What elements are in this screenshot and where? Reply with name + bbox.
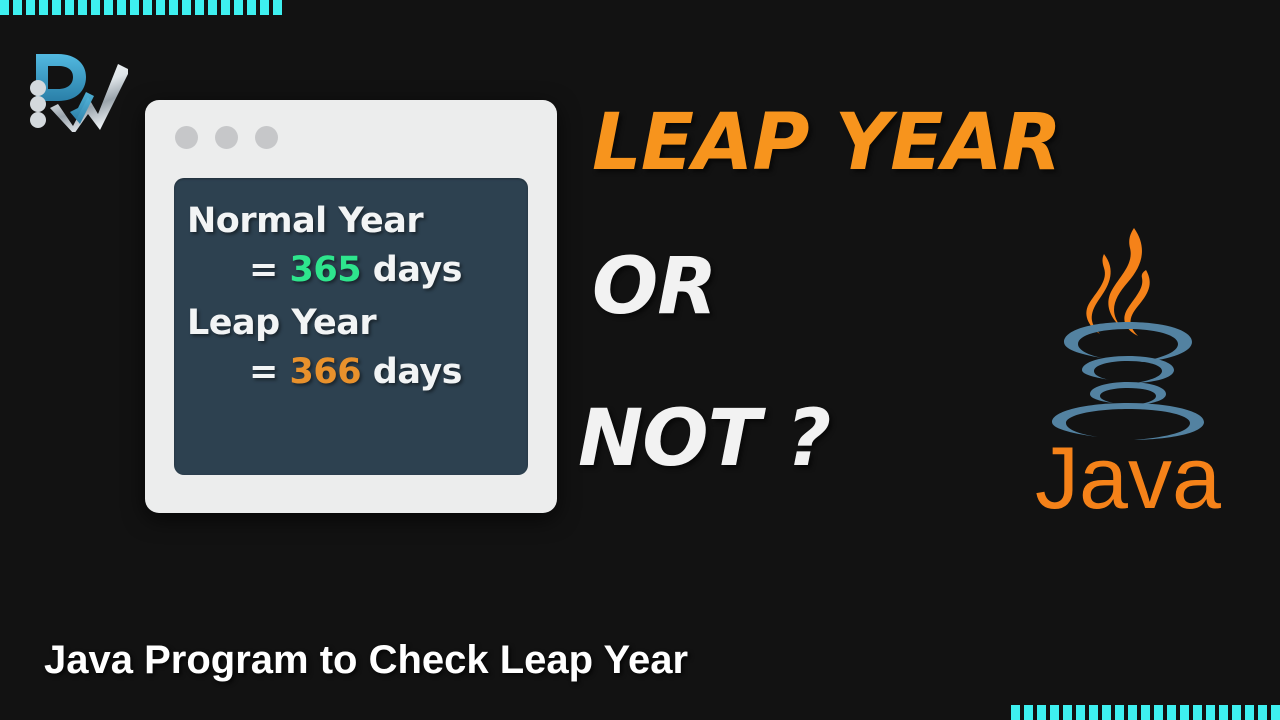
accent-stripe [1024, 705, 1033, 720]
accent-stripe [0, 0, 9, 15]
code-window-card: Normal Year = 365 days Leap Year = 366 d… [145, 100, 557, 513]
accent-stripe [1089, 705, 1098, 720]
accent-stripe [1050, 705, 1059, 720]
leap-year-value: = 366 days [174, 355, 528, 390]
accent-stripe [247, 0, 256, 15]
accent-stripe [1245, 705, 1254, 720]
headline-not: NOT ? [578, 400, 830, 478]
accent-stripe [1128, 705, 1137, 720]
accent-stripe [195, 0, 204, 15]
accent-stripe [13, 0, 22, 15]
accent-stripe [78, 0, 87, 15]
accent-stripe [65, 0, 74, 15]
window-dot-maximize-icon[interactable] [255, 126, 278, 149]
accent-stripe [1193, 705, 1202, 720]
accent-stripe [221, 0, 230, 15]
accent-stripe [91, 0, 100, 15]
accent-stripe [1076, 705, 1085, 720]
accent-stripe [130, 0, 139, 15]
accent-stripe [1063, 705, 1072, 720]
code-panel: Normal Year = 365 days Leap Year = 366 d… [174, 178, 528, 475]
normal-year-label: Normal Year [174, 204, 528, 239]
window-titlebar [175, 126, 278, 149]
accent-stripe [1011, 705, 1020, 720]
normal-year-unit: days [373, 250, 462, 290]
java-steam-icon [1086, 228, 1149, 336]
accent-stripe [39, 0, 48, 15]
window-dot-minimize-icon[interactable] [215, 126, 238, 149]
window-dot-close-icon[interactable] [175, 126, 198, 149]
accent-stripe [1154, 705, 1163, 720]
accent-stripe [1167, 705, 1176, 720]
normal-year-days: 365 [290, 250, 362, 290]
accent-stripe [1258, 705, 1267, 720]
video-title: Java Program to Check Leap Year [44, 640, 688, 680]
accent-stripe [1141, 705, 1150, 720]
accent-stripe [1271, 705, 1280, 720]
leap-year-unit: days [373, 352, 462, 392]
leap-year-label: Leap Year [174, 306, 528, 341]
accent-stripe [169, 0, 178, 15]
accent-stripe [1206, 705, 1215, 720]
accent-stripe [1037, 705, 1046, 720]
bottom-stripe-bar [1011, 705, 1280, 720]
accent-stripe [156, 0, 165, 15]
accent-stripe [208, 0, 217, 15]
leap-year-days: 366 [290, 352, 362, 392]
accent-stripe [273, 0, 282, 15]
accent-stripe [26, 0, 35, 15]
accent-stripe [1219, 705, 1228, 720]
accent-stripe [143, 0, 152, 15]
java-logo: Java [1030, 222, 1226, 514]
accent-stripe [260, 0, 269, 15]
headline-leap-year: LEAP YEAR [592, 104, 1061, 182]
equals-sign: = [249, 250, 278, 290]
accent-stripe [117, 0, 126, 15]
top-stripe-bar [0, 0, 282, 15]
accent-stripe [52, 0, 61, 15]
java-cup-icon [1052, 322, 1204, 440]
accent-stripe [1180, 705, 1189, 720]
thumbnail-canvas: Normal Year = 365 days Leap Year = 366 d… [0, 0, 1280, 720]
accent-stripe [1232, 705, 1241, 720]
accent-stripe [182, 0, 191, 15]
accent-stripe [234, 0, 243, 15]
accent-stripe [1102, 705, 1111, 720]
normal-year-value: = 365 days [174, 253, 528, 288]
equals-sign: = [249, 352, 278, 392]
accent-stripe [104, 0, 113, 15]
headline-or: OR [592, 248, 716, 326]
java-wordmark: Java [1035, 428, 1221, 514]
dw-monogram-logo [18, 42, 128, 132]
accent-stripe [1115, 705, 1124, 720]
